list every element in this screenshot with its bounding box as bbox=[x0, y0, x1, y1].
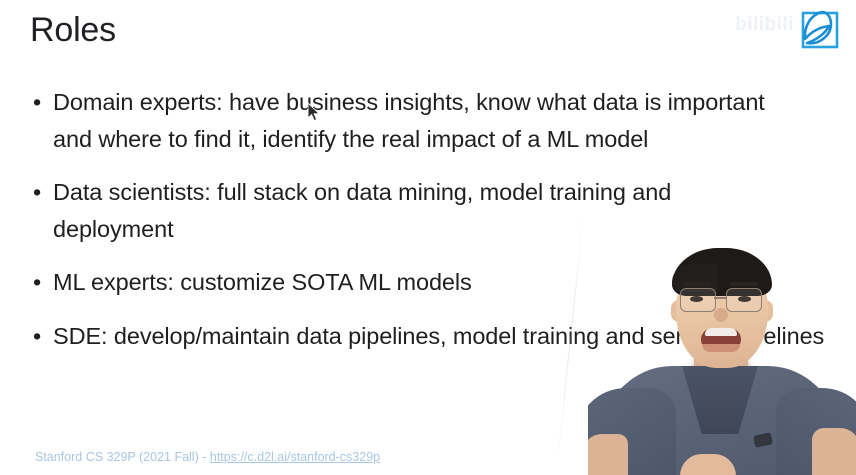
presenter-hand bbox=[680, 454, 736, 475]
footer-course-link[interactable]: https://c.d2l.ai/stanford-cs329p bbox=[210, 450, 380, 464]
bullet-marker-icon: • bbox=[33, 84, 41, 121]
bullet-marker-icon: • bbox=[33, 264, 41, 301]
presenter-arm-left bbox=[588, 434, 628, 475]
bullet-item-domain-experts: • Domain experts: have business insights… bbox=[30, 84, 795, 157]
bullet-item-sde: • SDE: develop/maintain data pipelines, … bbox=[30, 318, 833, 355]
bullet-text: Domain experts: have business insights, … bbox=[53, 89, 765, 152]
bullet-text: ML experts: customize SOTA ML models bbox=[53, 269, 472, 295]
bullet-text: Data scientists: full stack on data mini… bbox=[53, 179, 671, 242]
footer-course-label: Stanford CS 329P (2021 Fall) - bbox=[35, 450, 210, 464]
presenter-vneck-collar bbox=[682, 366, 758, 434]
presentation-slide: Roles bilibili • Domain experts: have bu… bbox=[0, 0, 856, 475]
bullet-marker-icon: • bbox=[33, 318, 41, 355]
d2l-logo-icon bbox=[796, 7, 842, 53]
bullet-text: SDE: develop/maintain data pipelines, mo… bbox=[53, 323, 824, 349]
bullet-list: • Domain experts: have business insights… bbox=[30, 84, 820, 354]
slide-footer: Stanford CS 329P (2021 Fall) - https://c… bbox=[35, 449, 380, 465]
bullet-marker-icon: • bbox=[33, 174, 41, 211]
mouse-cursor-icon bbox=[308, 103, 321, 122]
presenter-arm-right bbox=[812, 428, 856, 475]
presenter-torso bbox=[594, 366, 846, 475]
presenter-shirt-pocket bbox=[753, 432, 773, 447]
presenter-neck-shadow bbox=[692, 356, 750, 382]
bilibili-watermark: bilibili bbox=[735, 14, 794, 36]
slide-title: Roles bbox=[30, 9, 116, 51]
presenter-shoulder-right bbox=[776, 388, 856, 475]
bullet-item-data-scientists: • Data scientists: full stack on data mi… bbox=[30, 174, 793, 247]
presenter-shoulder-left bbox=[588, 388, 676, 475]
bullet-item-ml-experts: • ML experts: customize SOTA ML models bbox=[30, 264, 813, 301]
